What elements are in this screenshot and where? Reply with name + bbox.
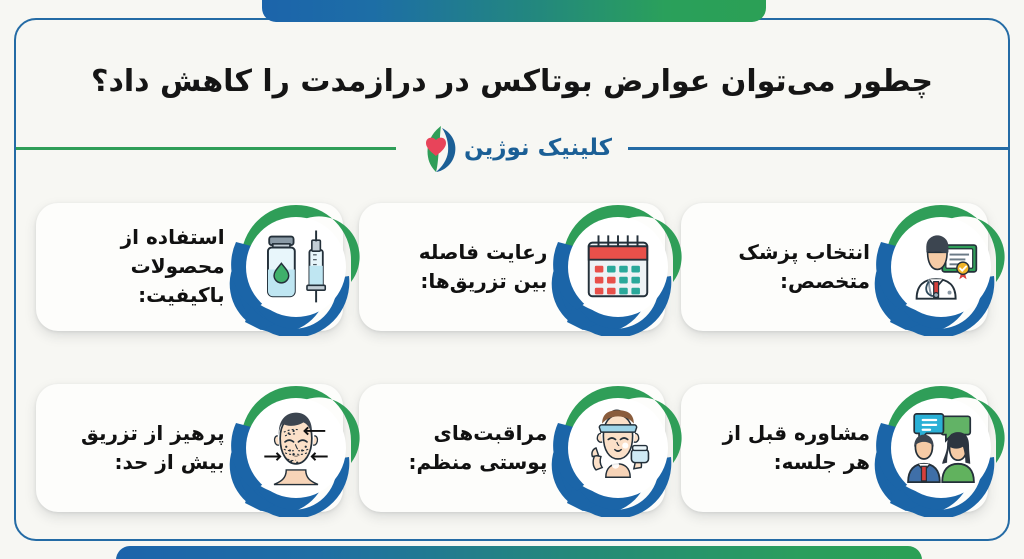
card-icon-wrap (227, 379, 365, 517)
doctor-certificate-icon (902, 228, 980, 306)
brand-logo-text: کلینیک نوژین (464, 137, 612, 160)
icon-disc (568, 398, 668, 498)
card-regular-skincare[interactable]: مراقبت‌های پوستی منظم: (359, 384, 666, 512)
card-label: مراقبت‌های پوستی منظم: (373, 419, 548, 477)
icon-disc (568, 217, 668, 317)
card-label: استفاده از محصولات باکیفیت: (50, 223, 225, 310)
card-quality-products[interactable]: استفاده از محصولات باکیفیت: (36, 203, 343, 331)
card-label: مشاوره قبل از هر جلسه: (695, 419, 870, 477)
icon-disc (891, 217, 991, 317)
cards-grid: انتخاب پزشک متخصص: (36, 192, 988, 522)
card-label: پرهیز از تزریق بیش از حد: (50, 419, 225, 477)
card-avoid-overinjection[interactable]: پرهیز از تزریق بیش از حد: (36, 384, 343, 512)
page-title: چطور می‌توان عوارض بوتاکس در درازمدت را … (91, 64, 933, 100)
card-pre-session-consultation[interactable]: مشاوره قبل از هر جلسه: (681, 384, 988, 512)
face-injection-points-icon (257, 409, 335, 487)
card-label: انتخاب پزشک متخصص: (695, 238, 870, 296)
brand-divider-row: کلینیک نوژین (16, 128, 1008, 168)
bottom-gradient-bar (116, 546, 922, 559)
calendar-icon (579, 228, 657, 306)
people-chat-icon (902, 409, 980, 487)
skincare-woman-icon (579, 409, 657, 487)
card-injection-interval[interactable]: رعایت فاصله بین تزریق‌ها: (359, 203, 666, 331)
vial-syringe-icon (257, 228, 335, 306)
card-doctor-specialist[interactable]: انتخاب پزشک متخصص: (681, 203, 988, 331)
card-icon-wrap (227, 198, 365, 336)
card-icon-wrap (549, 198, 687, 336)
divider-rule-left (628, 147, 1008, 150)
card-icon-wrap (872, 379, 1010, 517)
brand-logo: کلینیک نوژین (396, 123, 628, 173)
top-gradient-bar (262, 0, 766, 22)
divider-rule-right (16, 147, 396, 150)
card-icon-wrap (549, 379, 687, 517)
card-label: رعایت فاصله بین تزریق‌ها: (373, 238, 548, 296)
icon-disc (891, 398, 991, 498)
icon-disc (246, 398, 346, 498)
leaf-heart-logo-icon (412, 123, 458, 173)
icon-disc (246, 217, 346, 317)
card-icon-wrap (872, 198, 1010, 336)
